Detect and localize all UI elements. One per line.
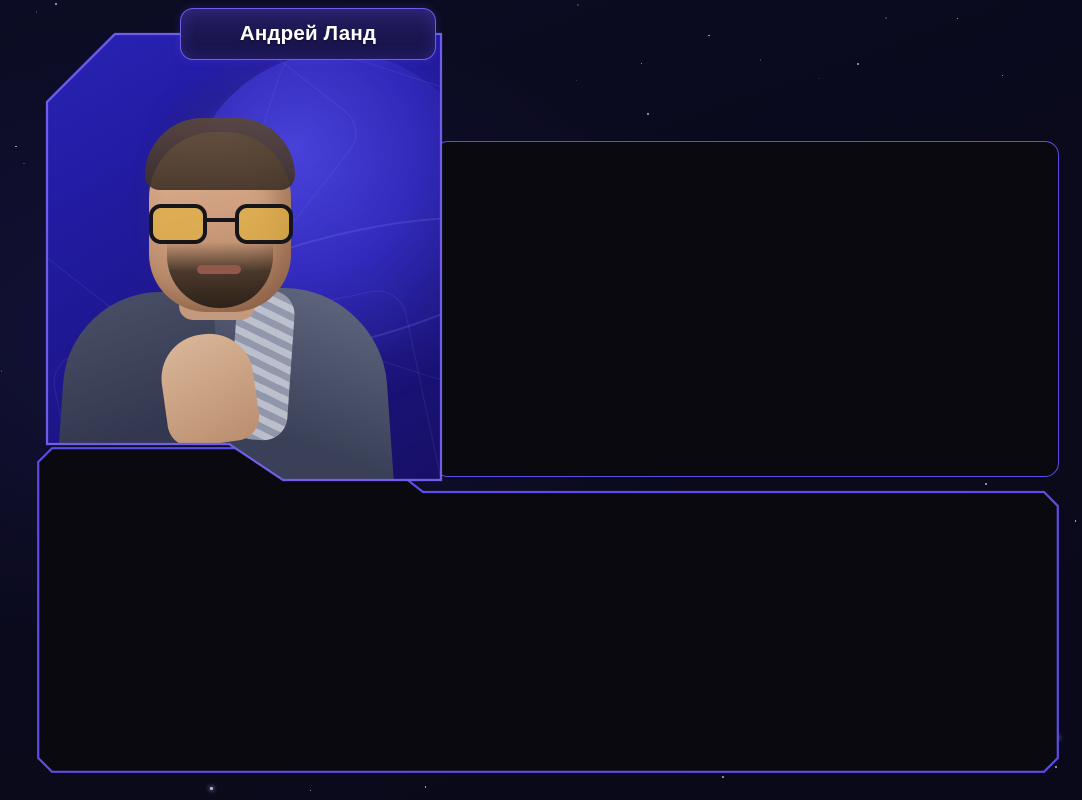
credentials-panel-lower — [37, 447, 1059, 773]
star-dot — [760, 59, 761, 60]
star-dot — [641, 63, 642, 64]
star-dot — [708, 35, 709, 36]
credentials-panel-upper — [434, 141, 1059, 477]
star-dot — [957, 18, 958, 19]
star-dot — [36, 11, 37, 12]
panel-lower-fill — [37, 447, 1059, 773]
glasses-lens-right — [235, 204, 293, 244]
slide-canvas: Андрей Ланд Тренер тренеров, тренер-мето… — [0, 0, 1082, 800]
star-dot — [577, 4, 579, 6]
star-dot — [647, 113, 649, 115]
star-dot — [55, 3, 56, 4]
star-dot — [210, 787, 213, 790]
star-dot — [576, 80, 577, 81]
speaker-name-badge: Андрей Ланд — [180, 8, 436, 60]
star-dot — [23, 163, 24, 164]
portrait-glasses-icon — [149, 204, 293, 244]
star-dot — [1075, 520, 1076, 521]
glasses-bridge — [207, 218, 235, 222]
star-dot — [819, 78, 820, 79]
speaker-photo-card — [47, 34, 441, 480]
star-dot — [1, 370, 2, 371]
star-dot — [15, 146, 16, 147]
portrait-hair — [145, 118, 295, 190]
speaker-portrait — [57, 80, 387, 480]
star-dot — [310, 790, 311, 791]
glasses-lens-left — [149, 204, 207, 244]
star-dot — [885, 17, 886, 18]
speaker-name-label: Андрей Ланд — [240, 22, 376, 46]
portrait-mouth — [197, 265, 241, 274]
star-dot — [722, 776, 724, 778]
star-dot — [857, 63, 859, 65]
star-dot — [1002, 75, 1003, 76]
star-dot — [425, 786, 426, 787]
